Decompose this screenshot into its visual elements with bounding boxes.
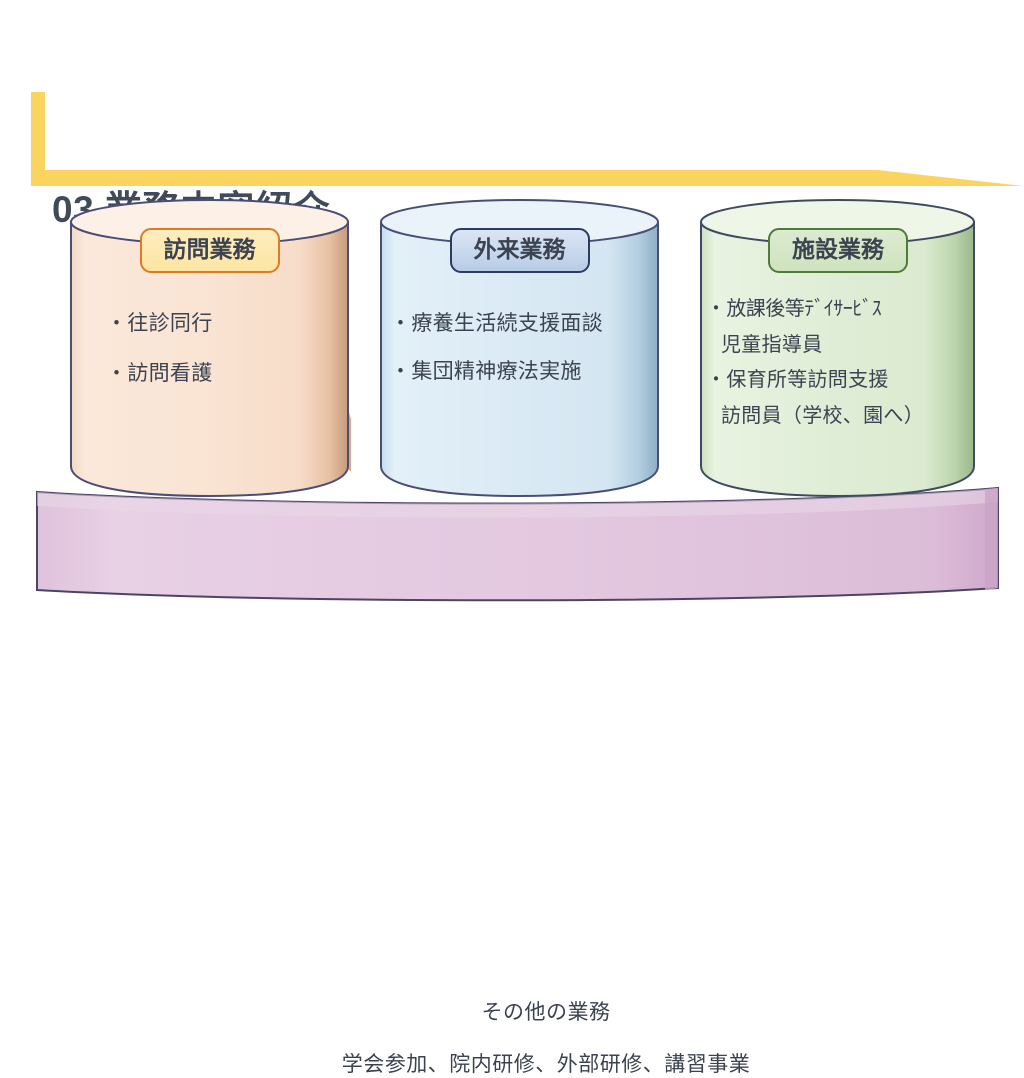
list-item-text: 訪問看護 [127, 362, 212, 385]
list-item: ・訪問看護 [106, 360, 351, 388]
cylinder-houmon-gyoumu[interactable]: 訪問業務 ・往診同行 ・訪問看護 [68, 198, 351, 498]
base-slab-heading: その他の業務 [482, 996, 611, 1026]
list-bullet: ・ [706, 298, 726, 320]
list-item: ・保育所等訪問支援 訪問員（学校、園へ） [706, 367, 978, 430]
cylinder-content-2: 外来業務 ・療養生活続支援面談 ・集団精神療法実施 [378, 198, 661, 498]
cylinder-badge-1[interactable]: 訪問業務 [140, 228, 280, 273]
base-slab-detail: 学会参加、院内研修、外部研修、講習事業 [342, 1048, 751, 1078]
list-item-text: 往診同行 [127, 312, 212, 335]
list-item-subtext: 訪問員（学校、園へ） [721, 403, 978, 429]
cylinder-badge-3[interactable]: 施設業務 [768, 228, 908, 273]
cylinder-content-1: 訪問業務 ・往診同行 ・訪問看護 [68, 198, 351, 498]
list-item-text: 保育所等訪問支援 [726, 369, 888, 391]
list-bullet: ・ [106, 312, 127, 335]
diagram-stage: その他の業務 学会参加、院内研修、外部研修、講習事業 [0, 0, 1024, 726]
cylinder-badge-2[interactable]: 外来業務 [450, 228, 590, 273]
cylinder-item-list-2: ・療養生活続支援面談 ・集団精神療法実施 [378, 310, 661, 405]
cylinder-item-list-3: ・放課後等ﾃﾞｲｻｰﾋﾞｽ 児童指導員 ・保育所等訪問支援 訪問員（学校、園へ） [698, 296, 978, 438]
cylinder-content-3: 施設業務 ・放課後等ﾃﾞｲｻｰﾋﾞｽ 児童指導員 ・保育所等訪問支援 訪問員（学… [698, 198, 978, 498]
list-item: ・放課後等ﾃﾞｲｻｰﾋﾞｽ 児童指導員 [706, 296, 978, 359]
list-item-subtext: 児童指導員 [721, 332, 978, 358]
list-bullet: ・ [390, 360, 411, 383]
list-item-text: 放課後等ﾃﾞｲｻｰﾋﾞｽ [726, 298, 881, 320]
list-bullet: ・ [106, 362, 127, 385]
list-item-text: 療養生活続支援面談 [411, 312, 603, 335]
cylinder-shisetsu-gyoumu[interactable]: 施設業務 ・放課後等ﾃﾞｲｻｰﾋﾞｽ 児童指導員 ・保育所等訪問支援 訪問員（学… [698, 198, 978, 498]
list-item: ・集団精神療法実施 [390, 358, 661, 386]
list-item: ・療養生活続支援面談 [390, 310, 661, 338]
list-item-text: 集団精神療法実施 [411, 360, 581, 383]
cylinder-gairai-gyoumu[interactable]: 外来業務 ・療養生活続支援面談 ・集団精神療法実施 [378, 198, 661, 498]
base-slab-text: その他の業務 学会参加、院内研修、外部研修、講習事業 [67, 976, 1024, 1076]
cylinder-item-list-1: ・往診同行 ・訪問看護 [68, 310, 351, 409]
list-item: ・往診同行 [106, 310, 351, 338]
list-bullet: ・ [390, 312, 411, 335]
list-bullet: ・ [706, 369, 726, 391]
